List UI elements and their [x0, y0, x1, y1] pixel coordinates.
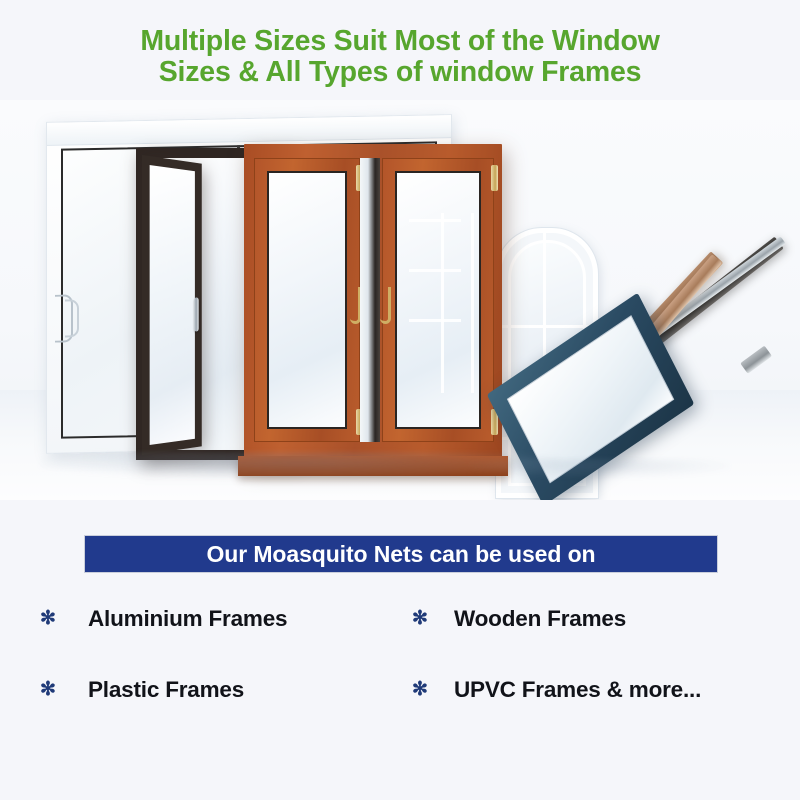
wooden-window-mullion — [360, 158, 380, 442]
window-frames-hero-image — [0, 100, 800, 500]
sliding-window-head-rail — [47, 115, 451, 146]
headline-line-2: Sizes & All Types of window Frames — [0, 57, 800, 88]
sliding-window-pull-handle-inner — [65, 299, 79, 337]
frame-types-list: ✻ Aluminium Frames ✻ Wooden Frames ✻ Pla… — [40, 606, 770, 703]
wooden-window-right-brass-handle — [380, 287, 391, 324]
muntin-bar — [409, 219, 461, 222]
frame-type-label-plastic: Plastic Frames — [88, 677, 244, 703]
headline-line-1: Multiple Sizes Suit Most of the Window — [0, 26, 800, 57]
list-item: ✻ Aluminium Frames — [40, 606, 412, 632]
wooden-window-left-glass — [267, 171, 347, 429]
frame-type-label-aluminium: Aluminium Frames — [88, 606, 287, 632]
wooden-double-casement-window — [244, 144, 502, 464]
list-item: ✻ Wooden Frames — [412, 606, 770, 632]
list-item: ✻ Plastic Frames — [40, 677, 412, 703]
asterisk-bullet-icon: ✻ — [412, 680, 428, 699]
wooden-window-left-leaf — [254, 158, 360, 442]
usage-banner: Our Moasquito Nets can be used on — [84, 535, 718, 573]
arched-window-mullion-horizontal — [501, 325, 593, 328]
aluminium-profile-end-cap — [740, 346, 772, 374]
muntin-bar — [409, 319, 461, 322]
muntin-bar — [409, 269, 461, 272]
page-title: Multiple Sizes Suit Most of the Window S… — [0, 26, 800, 88]
poster-canvas: Multiple Sizes Suit Most of the Window S… — [0, 0, 800, 800]
dark-casement-leaf-glass — [150, 165, 195, 445]
frame-type-label-wooden: Wooden Frames — [454, 606, 626, 632]
asterisk-bullet-icon: ✻ — [40, 609, 56, 628]
frame-types-row: ✻ Plastic Frames ✻ UPVC Frames & more... — [40, 677, 770, 703]
list-item: ✻ UPVC Frames & more... — [412, 677, 770, 703]
frame-type-label-upvc: UPVC Frames & more... — [454, 677, 701, 703]
asterisk-bullet-icon: ✻ — [412, 609, 428, 628]
dark-casement-leaf-handle — [194, 297, 199, 331]
asterisk-bullet-icon: ✻ — [40, 680, 56, 699]
hero-shadow-right — [470, 458, 730, 478]
wooden-window-hinge — [491, 165, 498, 191]
muntin-bar — [471, 213, 474, 393]
usage-banner-text: Our Moasquito Nets can be used on — [206, 541, 595, 568]
muntin-bar — [441, 213, 444, 393]
dark-brown-casement-open-leaf — [142, 155, 202, 455]
wooden-window-right-leaf — [382, 158, 494, 442]
frame-types-row: ✻ Aluminium Frames ✻ Wooden Frames — [40, 606, 770, 632]
wooden-window-right-glass — [395, 171, 481, 429]
